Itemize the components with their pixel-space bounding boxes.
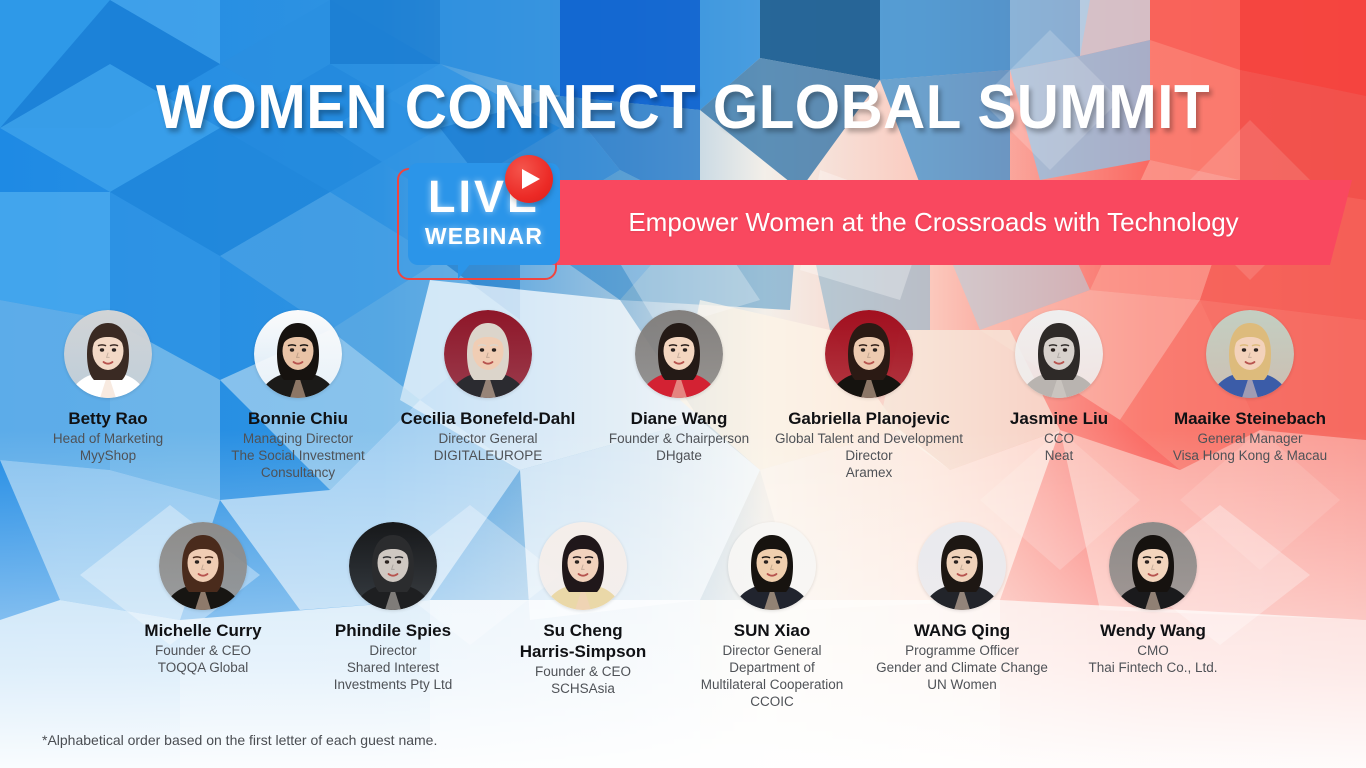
speaker-name: Maaike Steinebach	[1135, 408, 1365, 429]
play-icon[interactable]	[505, 155, 553, 203]
webinar-topic-banner: Empower Women at the Crossroads with Tec…	[535, 180, 1352, 265]
portrait-sun-xiao	[728, 522, 816, 610]
speaker-card: Wendy WangCMO Thai Fintech Co., Ltd.	[1038, 522, 1268, 676]
webinar-topic-text: Empower Women at the Crossroads with Tec…	[610, 206, 1276, 239]
portrait-betty-rao	[64, 310, 152, 398]
speaker-card: Maaike SteinebachGeneral Manager Visa Ho…	[1135, 310, 1365, 464]
live-webinar-badge: Empower Women at the Crossroads with Tec…	[396, 163, 976, 281]
portrait-cecilia-bonefeld-dahl	[444, 310, 532, 398]
portrait-phindile-spies	[349, 522, 437, 610]
speaker-name: Wendy Wang	[1038, 620, 1268, 641]
portrait-maaike-steinebach	[1206, 310, 1294, 398]
portrait-michelle-curry	[159, 522, 247, 610]
portrait-gabriella-planojevic	[825, 310, 913, 398]
portrait-wang-qing	[918, 522, 1006, 610]
portrait-wendy-wang	[1109, 522, 1197, 610]
portrait-diane-wang	[635, 310, 723, 398]
page-title: WOMEN CONNECT GLOBAL SUMMIT	[41, 72, 1325, 144]
poster-canvas: WOMEN CONNECT GLOBAL SUMMIT Empower Wome…	[0, 0, 1366, 768]
badge-bubble-tail	[458, 263, 480, 279]
footnote: *Alphabetical order based on the first l…	[42, 731, 437, 749]
portrait-jasmine-liu	[1015, 310, 1103, 398]
portrait-bonnie-chiu	[254, 310, 342, 398]
webinar-label: WEBINAR	[408, 222, 560, 250]
speaker-role: General Manager Visa Hong Kong & Macau	[1135, 430, 1365, 464]
speaker-role: CMO Thai Fintech Co., Ltd.	[1038, 642, 1268, 676]
portrait-su-cheng-harris-simpson	[539, 522, 627, 610]
